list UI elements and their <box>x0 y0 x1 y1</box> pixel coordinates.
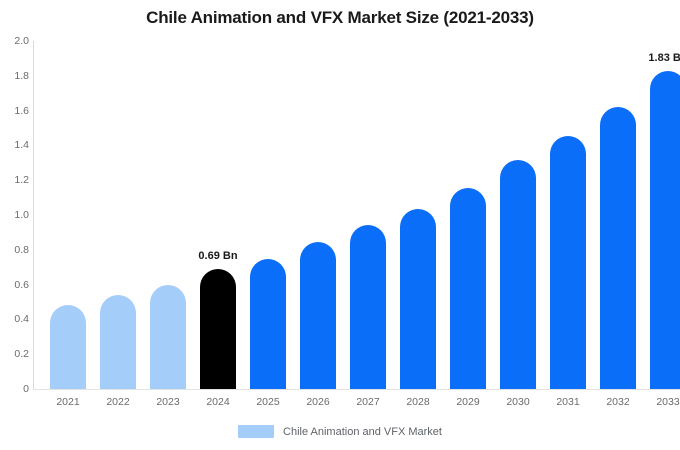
bar-slot <box>300 41 336 389</box>
bar-slot <box>600 41 636 389</box>
bar-slot <box>250 41 286 389</box>
bar[interactable] <box>50 305 86 389</box>
bar[interactable] <box>300 242 336 389</box>
bar-slot <box>350 41 386 389</box>
bar[interactable] <box>100 295 136 389</box>
y-axis-tick-label: 0.2 <box>1 348 29 360</box>
bar-slot <box>100 41 136 389</box>
y-axis-tick-label: 2.0 <box>1 35 29 47</box>
y-axis-tick-label: 0.4 <box>1 313 29 325</box>
y-axis-tick-labels: 00.20.40.60.81.01.21.41.61.82.0 <box>0 0 29 450</box>
bar-slot <box>500 41 536 389</box>
bar-slot: 1.83 Bn <box>650 41 680 389</box>
chart-legend: Chile Animation and VFX Market <box>0 425 680 438</box>
legend-swatch-icon <box>238 425 274 438</box>
y-axis-tick-label: 1.2 <box>1 174 29 186</box>
plot-area: 0.69 Bn1.83 Bn <box>33 41 680 389</box>
y-axis-tick-label: 0 <box>1 383 29 395</box>
x-axis-tick-label: 2033 <box>638 396 680 408</box>
y-axis-tick-label: 1.0 <box>1 209 29 221</box>
chart-title: Chile Animation and VFX Market Size (202… <box>0 8 680 28</box>
bar[interactable] <box>250 259 286 390</box>
bar[interactable] <box>500 160 536 389</box>
bar-slot <box>450 41 486 389</box>
bar[interactable] <box>200 269 236 389</box>
bar[interactable] <box>150 285 186 389</box>
bar[interactable] <box>400 209 436 389</box>
bar[interactable] <box>550 136 586 389</box>
bar-value-label: 0.69 Bn <box>198 250 237 262</box>
bar-chart: Chile Animation and VFX Market Size (202… <box>0 0 680 450</box>
bar-value-label: 1.83 Bn <box>648 52 680 64</box>
y-axis-tick-label: 1.4 <box>1 139 29 151</box>
y-axis-tick-label: 1.8 <box>1 70 29 82</box>
bar[interactable] <box>350 225 386 389</box>
bar[interactable] <box>450 188 486 389</box>
bar[interactable] <box>600 107 636 389</box>
bar-slot <box>400 41 436 389</box>
bar-slot: 0.69 Bn <box>200 41 236 389</box>
bar-slot <box>550 41 586 389</box>
x-axis-line <box>33 389 680 390</box>
bar-slot <box>150 41 186 389</box>
y-axis-tick-label: 1.6 <box>1 105 29 117</box>
bar-slot <box>50 41 86 389</box>
y-axis-tick-label: 0.6 <box>1 279 29 291</box>
y-axis-tick-label: 0.8 <box>1 244 29 256</box>
bar[interactable] <box>650 71 680 389</box>
legend-item-label: Chile Animation and VFX Market <box>283 426 442 438</box>
